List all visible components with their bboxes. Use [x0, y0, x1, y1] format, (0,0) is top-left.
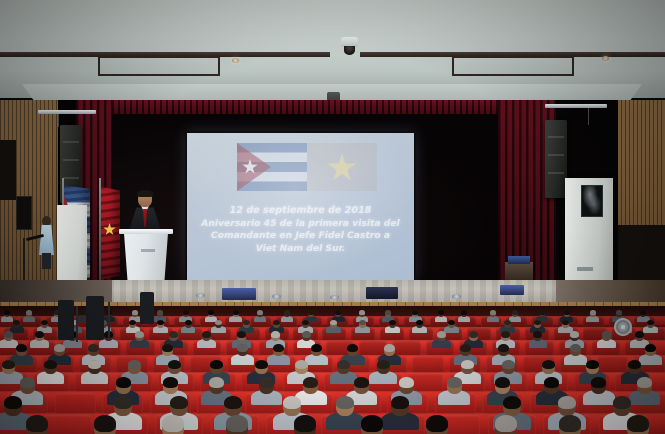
audience-member-hair — [183, 310, 189, 314]
audience-member-hair — [337, 360, 350, 370]
wall-artwork-right — [581, 185, 603, 217]
stage-side-equipment — [508, 256, 530, 264]
dome-projector-icon — [341, 37, 358, 47]
curtain-valance — [76, 100, 556, 114]
ceiling-spot-light-2 — [602, 56, 609, 61]
audience-member-hair — [602, 331, 611, 338]
ceiling-recess-left — [98, 56, 220, 76]
audience-member-hair — [359, 310, 365, 314]
audience-member-hair — [512, 310, 518, 314]
audience-member-hair — [490, 310, 496, 314]
audience-member-hair — [335, 310, 341, 314]
audience-member-hair — [79, 310, 85, 314]
audience-member-hair — [635, 331, 644, 338]
audience-member-hair — [628, 360, 641, 370]
audience-member-hair — [135, 331, 144, 338]
slide-line-4: Viet Nam del Sur. — [193, 243, 408, 256]
audience-member-hair — [209, 377, 224, 388]
speaker-hair — [137, 190, 153, 197]
audience-member-hair — [501, 331, 510, 338]
audience-member-hair — [128, 360, 141, 370]
audience-member-hair — [54, 344, 65, 352]
audience-member-hair — [627, 415, 649, 431]
audience-member-hair — [637, 377, 652, 388]
audience-member-hair — [640, 310, 646, 314]
ceiling-recess-right — [452, 56, 574, 76]
audience-member-hair — [185, 320, 192, 325]
audience-member-hair — [336, 396, 354, 409]
side-panel-left — [57, 205, 87, 285]
auditorium-scene: 12 de septiembre de 2018 Aniversario 45 … — [0, 0, 665, 434]
audience-member-hair — [210, 360, 223, 370]
audience-member-hair — [88, 344, 99, 352]
audience-member-hair — [4, 331, 13, 338]
audience-member-hair — [426, 415, 448, 431]
audience-member-hair — [114, 396, 132, 409]
audience-member-hair — [302, 331, 311, 338]
stage-monitor-3 — [500, 285, 524, 295]
audience-member-hair — [215, 320, 222, 325]
audience-member-hair — [590, 310, 596, 314]
side-panel-emblem — [577, 267, 593, 271]
audience-member-hair — [377, 360, 390, 370]
audience-member-hair — [586, 360, 599, 370]
audience-member-hair — [169, 331, 178, 338]
seat — [392, 341, 420, 356]
audience-member-hair — [94, 415, 116, 431]
audience-member-hair — [157, 310, 163, 314]
flag-pole-vietnam — [99, 178, 101, 284]
seat — [44, 415, 92, 434]
assistant-standing-left — [39, 216, 54, 268]
wall-artwork-left — [16, 196, 32, 230]
camera-operator-1 — [58, 300, 74, 340]
audience-member-hair — [559, 415, 581, 431]
audience-member-hair — [498, 344, 509, 352]
audience-member-hair — [461, 310, 467, 314]
audience-member-hair — [460, 344, 471, 352]
audience-member-hair — [273, 320, 280, 325]
floor-mic-1 — [196, 293, 205, 298]
podium — [122, 232, 170, 284]
audience-member-hair — [132, 310, 138, 314]
audience-member-hair — [16, 344, 27, 352]
audience-member-hair — [259, 377, 274, 388]
audience-member-hair — [539, 310, 545, 314]
cuba-flag-icon — [237, 143, 307, 191]
audience-member-hair — [461, 360, 474, 370]
audience-member-hair — [157, 320, 164, 325]
stage-side-table — [505, 262, 533, 282]
audience-member-hair — [44, 360, 57, 370]
audience-member-hair — [224, 396, 242, 409]
audience-member-hair — [503, 396, 521, 409]
audience-member-hair — [283, 396, 301, 409]
audience-member-hair — [295, 360, 308, 370]
rigging-wire-right — [588, 107, 589, 125]
audience-member-hair — [613, 396, 631, 409]
audience-member-hair — [495, 377, 510, 388]
audience-member-hair — [26, 310, 32, 314]
ceiling — [0, 0, 665, 98]
rigging-wire-left — [58, 113, 59, 127]
audience-member-hair — [469, 331, 478, 338]
projection-screen: 12 de septiembre de 2018 Aniversario 45 … — [185, 131, 416, 282]
audience-member-hair — [273, 344, 284, 352]
audience-member-hair — [35, 331, 44, 338]
audience-member-hair — [294, 415, 316, 431]
audience-member-hair — [438, 310, 444, 314]
audience-member-hair — [271, 331, 280, 338]
seat — [597, 356, 629, 373]
stage-monitor-1 — [222, 288, 256, 300]
audience-member-hair — [447, 377, 462, 388]
wall-panel-dark-left — [0, 140, 16, 200]
audience-member-hair — [558, 396, 576, 409]
audience-member-hair — [570, 331, 579, 338]
audience-member-hair — [168, 360, 181, 370]
audience-member-hair — [391, 396, 409, 409]
audience-member-hair — [544, 377, 559, 388]
audience-member-hair — [416, 320, 423, 325]
audience-member-hair — [570, 344, 581, 352]
podium-emblem — [141, 249, 155, 252]
slide-line-1: 12 de septiembre de 2018 — [193, 205, 408, 218]
camera-tripod-1 — [76, 306, 78, 342]
audience-member-hair — [170, 396, 188, 409]
audience-member-hair — [162, 415, 184, 431]
audience-member-hair — [20, 377, 35, 388]
audience-member-hair — [385, 310, 391, 314]
microphone-stand-pole — [23, 238, 25, 280]
audience-member-hair — [399, 377, 414, 388]
audience-member-hair — [591, 377, 606, 388]
pedestal-fan-icon — [614, 318, 632, 336]
slide-text-block: 12 de septiembre de 2018 Aniversario 45 … — [193, 205, 408, 255]
floor-mic-2 — [272, 294, 281, 299]
audience-member-hair — [237, 344, 248, 352]
rigging-bar-left — [38, 110, 96, 114]
rigging-bar-right — [545, 104, 607, 108]
slide-flags — [237, 143, 377, 191]
seat — [412, 356, 444, 373]
slide-line-3: Comandante en Jefe Fidel Castro a — [193, 230, 408, 243]
camera-tripod-2 — [108, 302, 110, 340]
slide-line-2: Aniversario 45 de la primera visita del — [193, 218, 408, 231]
ceiling-spot-light-1 — [232, 58, 239, 63]
vietnam-flag-icon — [307, 143, 377, 191]
audience-member-hair — [564, 310, 570, 314]
audience-member-hair — [311, 344, 322, 352]
audience-member-hair — [616, 310, 622, 314]
audience-member-hair — [226, 415, 248, 431]
audience-member-hair — [437, 331, 446, 338]
audience-member-hair — [26, 415, 48, 431]
audience-member-hair — [88, 360, 101, 370]
audience-member-hair — [257, 310, 263, 314]
camera-operator-2 — [86, 296, 104, 340]
audience-member-hair — [542, 360, 555, 370]
audience-member-hair — [645, 344, 656, 352]
audience-member-hair — [2, 360, 15, 370]
wall-panel-dark-right — [610, 225, 665, 287]
audience-member-hair — [303, 377, 318, 388]
audience-member-hair — [284, 310, 290, 314]
audience-member-hair — [412, 310, 418, 314]
audience-member-hair — [202, 331, 211, 338]
camera-operator-3 — [140, 292, 154, 324]
audience-member-hair — [4, 396, 22, 409]
audience-member-hair — [533, 331, 542, 338]
audience-member-hair — [4, 310, 10, 314]
audience-member-hair — [361, 415, 383, 431]
floor-mic-4 — [452, 294, 461, 299]
stage-monitor-2 — [366, 287, 398, 299]
audience-member-hair — [237, 331, 246, 338]
audience-member-hair — [116, 377, 131, 388]
audience-member-hair — [233, 310, 239, 314]
audience-member-hair — [354, 377, 369, 388]
audience-member-hair — [504, 320, 511, 325]
audience-member-hair — [255, 360, 268, 370]
podium-top-surface — [119, 229, 173, 234]
audience-member-hair — [302, 320, 309, 325]
audience-member-hair — [502, 360, 515, 370]
seat — [359, 341, 387, 356]
stage-flag-vietnam — [99, 186, 120, 280]
audience-member-hair — [163, 377, 178, 388]
line-array-speaker-right — [545, 120, 567, 198]
audience-member-hair — [384, 344, 395, 352]
audience-member-hair — [162, 344, 173, 352]
audience-member-hair — [308, 310, 314, 314]
floor-mic-3 — [330, 295, 339, 300]
screen-surface: 12 de septiembre de 2018 Aniversario 45 … — [187, 133, 414, 280]
audience-member-hair — [208, 310, 214, 314]
audience-member-hair — [495, 415, 517, 431]
